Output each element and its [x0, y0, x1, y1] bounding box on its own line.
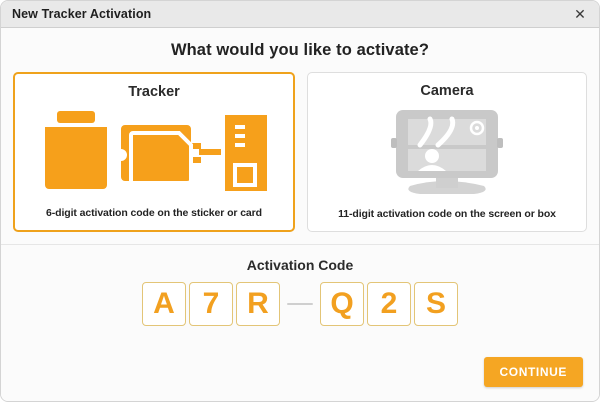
option-title-tracker: Tracker [128, 84, 180, 100]
dialog-footer: CONTINUE [484, 357, 583, 387]
activation-code-label: Activation Code [1, 257, 599, 273]
option-caption-tracker: 6-digit activation code on the sticker o… [46, 207, 262, 219]
activation-type-options: Tracker [1, 60, 599, 232]
tracker-devices-icon [15, 100, 293, 207]
option-title-camera: Camera [420, 83, 473, 99]
dialog-titlebar: New Tracker Activation ✕ [1, 1, 599, 28]
option-card-tracker[interactable]: Tracker [13, 72, 295, 232]
activation-code-input-group: A 7 R Q 2 S [1, 282, 599, 326]
code-digit-2[interactable]: 7 [189, 282, 233, 326]
option-card-camera[interactable]: Camera [307, 72, 587, 232]
code-digit-6[interactable]: S [414, 282, 458, 326]
code-separator-dash [287, 303, 313, 305]
code-digit-3[interactable]: R [236, 282, 280, 326]
dialog-body: What would you like to activate? Tracker [1, 28, 599, 401]
camera-monitor-icon [308, 99, 586, 208]
option-caption-camera: 11-digit activation code on the screen o… [338, 208, 556, 220]
close-icon[interactable]: ✕ [569, 4, 591, 24]
code-digit-1[interactable]: A [142, 282, 186, 326]
new-tracker-activation-dialog: New Tracker Activation ✕ What would you … [0, 0, 600, 402]
section-divider [1, 244, 599, 245]
dialog-title: New Tracker Activation [12, 7, 569, 21]
continue-button[interactable]: CONTINUE [484, 357, 583, 387]
code-digit-5[interactable]: 2 [367, 282, 411, 326]
page-title: What would you like to activate? [1, 41, 599, 60]
code-digit-4[interactable]: Q [320, 282, 364, 326]
